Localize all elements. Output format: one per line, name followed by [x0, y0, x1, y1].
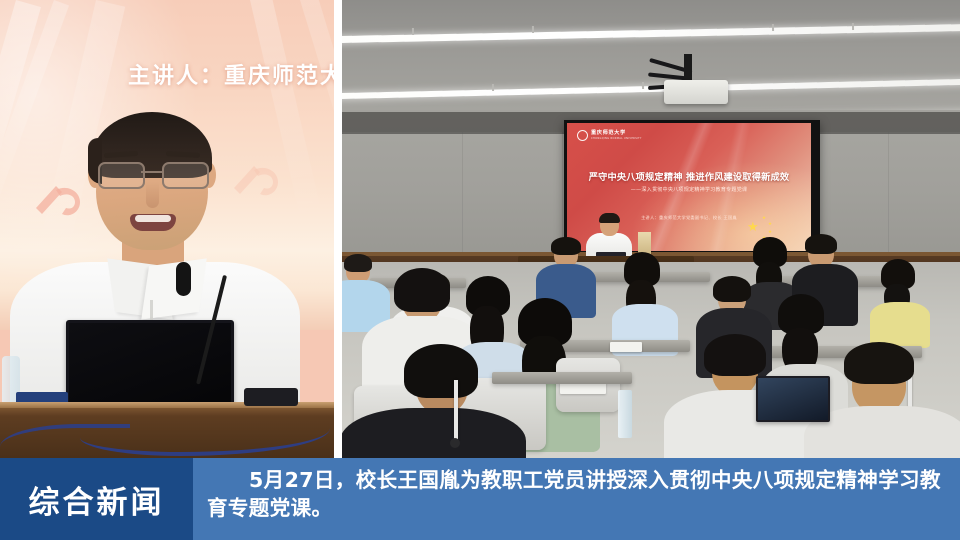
- audience-area: [342, 262, 960, 458]
- water-bottle: [618, 390, 632, 438]
- news-category-label: 综合新闻: [29, 477, 165, 522]
- university-logo: 重庆师范大学 CHONGQING NORMAL UNIVERSITY: [577, 130, 642, 141]
- logo-mark-icon: [577, 130, 588, 141]
- university-name-en: CHONGQING NORMAL UNIVERSITY: [591, 137, 642, 140]
- news-category-badge[interactable]: 综合新闻: [0, 458, 193, 540]
- star-icon: ★: [747, 221, 759, 234]
- speaker-nose: [146, 182, 159, 208]
- projector: [664, 80, 728, 104]
- star-icon: ★: [768, 223, 772, 228]
- light-seam: [852, 23, 854, 30]
- light-seam: [492, 84, 494, 91]
- laptop: [756, 376, 830, 422]
- wall-panel: [888, 132, 960, 258]
- backdrop-overlay-text: 主讲人：重庆师范大: [128, 58, 334, 90]
- photo-strip: 主讲人：重庆师范大: [0, 0, 960, 458]
- light-seam: [642, 82, 644, 89]
- microphone-icon: [176, 262, 191, 296]
- wall-panel: [342, 132, 463, 258]
- wall-panel: [462, 132, 563, 258]
- party-emblem-icon: [222, 150, 296, 220]
- lecturer-at-podium: [586, 214, 632, 260]
- star-icon: ★: [768, 231, 772, 236]
- desk-leg: [454, 380, 458, 442]
- slide-title: 严守中央八项规定精神 推进作风建设取得新成效: [567, 169, 811, 183]
- news-caption-bar: 综合新闻 5月27日，校长王国胤为教职工党员讲授深入贯彻中央八项规定精神学习教育…: [0, 458, 960, 540]
- light-seam: [532, 26, 534, 33]
- light-seam: [412, 28, 414, 35]
- speaker-portrait-photo: 主讲人：重庆师范大: [0, 0, 334, 458]
- speaker-mouth: [130, 214, 176, 231]
- cable-adapter: [244, 388, 298, 406]
- news-photo-banner: 主讲人：重庆师范大: [0, 0, 960, 540]
- star-icon: ★: [762, 217, 766, 222]
- photo-divider: [334, 0, 342, 458]
- news-caption-text: 5月27日，校长王国胤为教职工党员讲授深入贯彻中央八项规定精神学习教育专题党课。: [193, 458, 960, 540]
- lecture-hall-photo: 重庆师范大学 CHONGQING NORMAL UNIVERSITY 严守中央八…: [342, 0, 960, 458]
- desk: [492, 372, 632, 384]
- light-seam: [772, 24, 774, 31]
- document: [610, 342, 642, 352]
- desk-wheel: [450, 438, 460, 448]
- slide-subtitle: ——深入贯彻中央八项规定精神学习教育专题党课: [567, 186, 811, 193]
